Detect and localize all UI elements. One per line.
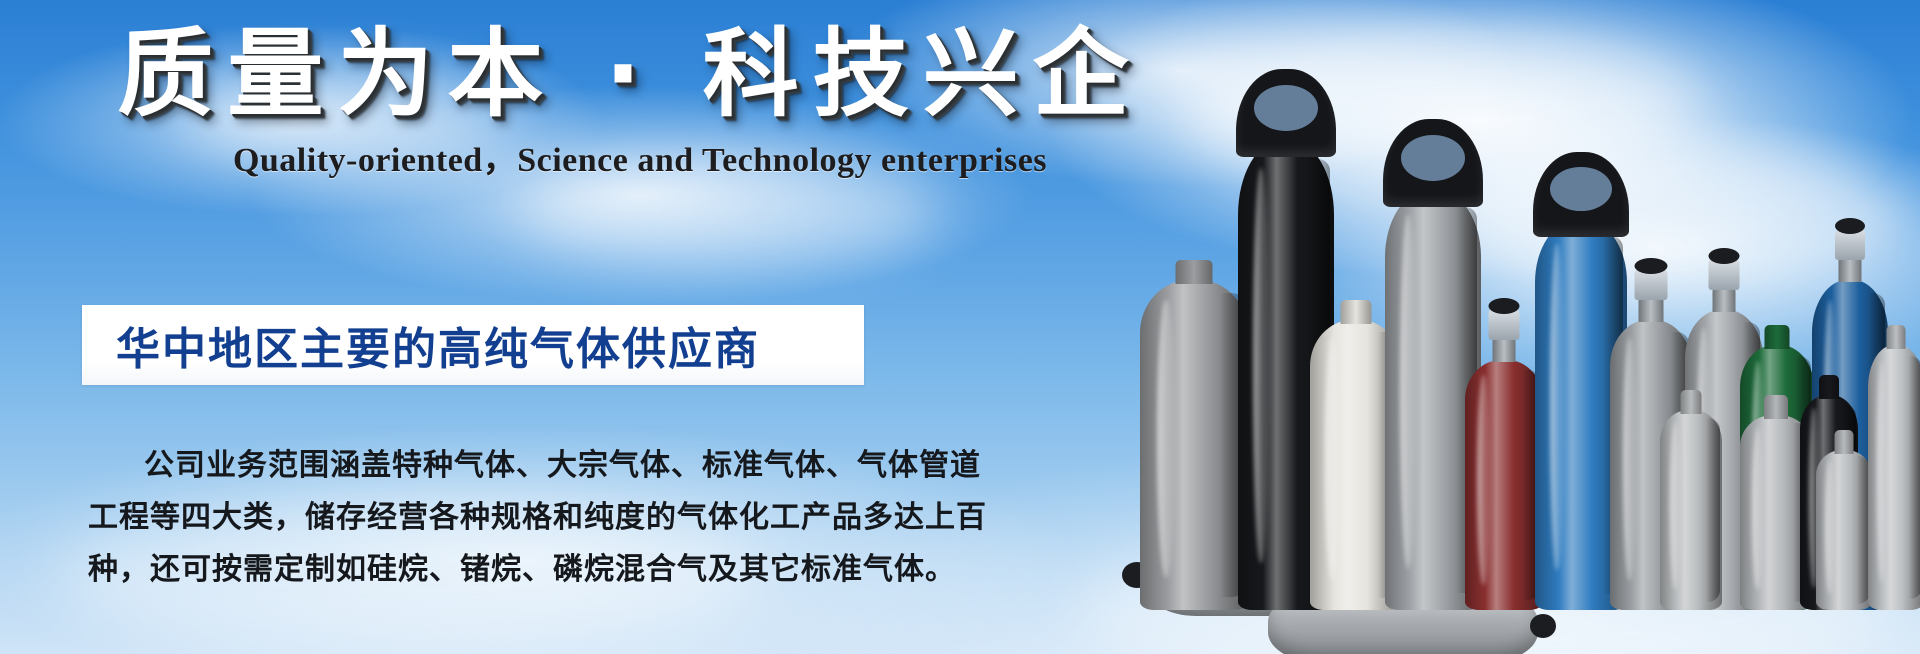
cylinder-shadow <box>1909 356 1920 600</box>
cylinder-neck <box>1887 325 1906 349</box>
subtitle-container: Quality-oriented，Science and Technology … <box>0 132 1280 181</box>
cylinder-highlight <box>1752 427 1764 591</box>
cylinder-body <box>1868 345 1920 610</box>
cylinder-grey-tall-left <box>1140 280 1248 610</box>
cylinder-aluminium-short <box>1816 450 1872 610</box>
cylinder-aluminium-small <box>1660 410 1722 610</box>
cylinder-silver-slim <box>1868 345 1920 610</box>
cylinder-shadow <box>1706 418 1720 602</box>
gas-cylinder-collage <box>1140 120 1920 654</box>
cylinder-highlight <box>1325 337 1340 581</box>
cylinder-valve <box>1635 270 1668 300</box>
cylinder-valve <box>1709 260 1740 290</box>
cylinder-highlight <box>1877 361 1886 584</box>
cylinder-valve-guard <box>1533 152 1629 237</box>
cylinder-valve-handwheel <box>1709 248 1740 264</box>
cylinder-body <box>1816 450 1872 610</box>
cylinder-neck <box>1681 390 1702 414</box>
cylinder-valve-handwheel <box>1635 258 1668 274</box>
tagline-box: 华中地区主要的高纯气体供应商 <box>82 305 864 385</box>
cylinder-highlight <box>1550 243 1565 571</box>
cylinder-body <box>1660 410 1722 610</box>
gas-company-banner: 质量为本 · 科技兴企 Quality-oriented，Science and… <box>0 0 1920 654</box>
cylinder-valve <box>1489 310 1520 340</box>
headline-container: 质量为本 · 科技兴企 <box>0 18 1260 131</box>
cylinder-highlight <box>1825 460 1834 594</box>
cylinder-highlight <box>1253 168 1268 563</box>
cylinder-neck <box>1835 430 1854 454</box>
paragraph-line-1: 公司业务范围涵盖特种气体、大宗气体、标准气体、气体管道 <box>88 440 1048 492</box>
cylinder-highlight <box>1477 375 1489 585</box>
cylinder-neck <box>1765 325 1790 349</box>
cylinder-valve-handwheel <box>1489 298 1520 314</box>
cylinder-highlight <box>1400 215 1415 568</box>
paragraph-line-2: 工程等四大类，储存经营各种规格和纯度的气体化工产品多达上百 <box>88 492 1048 544</box>
cylinder-neck <box>1819 375 1839 399</box>
cylinder-highlight <box>1157 300 1174 577</box>
headline-chinese: 质量为本 · 科技兴企 <box>117 18 1142 131</box>
cylinder-valve <box>1835 230 1865 260</box>
cylinder-valve-handwheel <box>1835 218 1865 234</box>
cylinder-neck <box>1176 260 1213 284</box>
cylinder-neck <box>1764 395 1788 419</box>
tagline-text: 华中地区主要的高纯气体供应商 <box>116 313 760 377</box>
cylinder-lying-small-valve <box>1530 614 1556 638</box>
cylinder-highlight <box>1670 422 1680 590</box>
subtitle-english: Quality-oriented，Science and Technology … <box>233 132 1047 181</box>
cylinder-highlight <box>1623 337 1636 581</box>
cylinder-neck <box>1341 300 1372 324</box>
cylinder-red-purple <box>1465 360 1543 610</box>
description-paragraph: 公司业务范围涵盖特种气体、大宗气体、标准气体、气体管道 工程等四大类，储存经营各… <box>88 440 1048 596</box>
paragraph-line-3: 种，还可按需定制如硅烷、锗烷、磷烷混合气及其它标准气体。 <box>88 544 1048 596</box>
cylinder-valve-guard <box>1383 119 1483 207</box>
cylinder-body <box>1140 280 1248 610</box>
cylinder-body <box>1465 360 1543 610</box>
